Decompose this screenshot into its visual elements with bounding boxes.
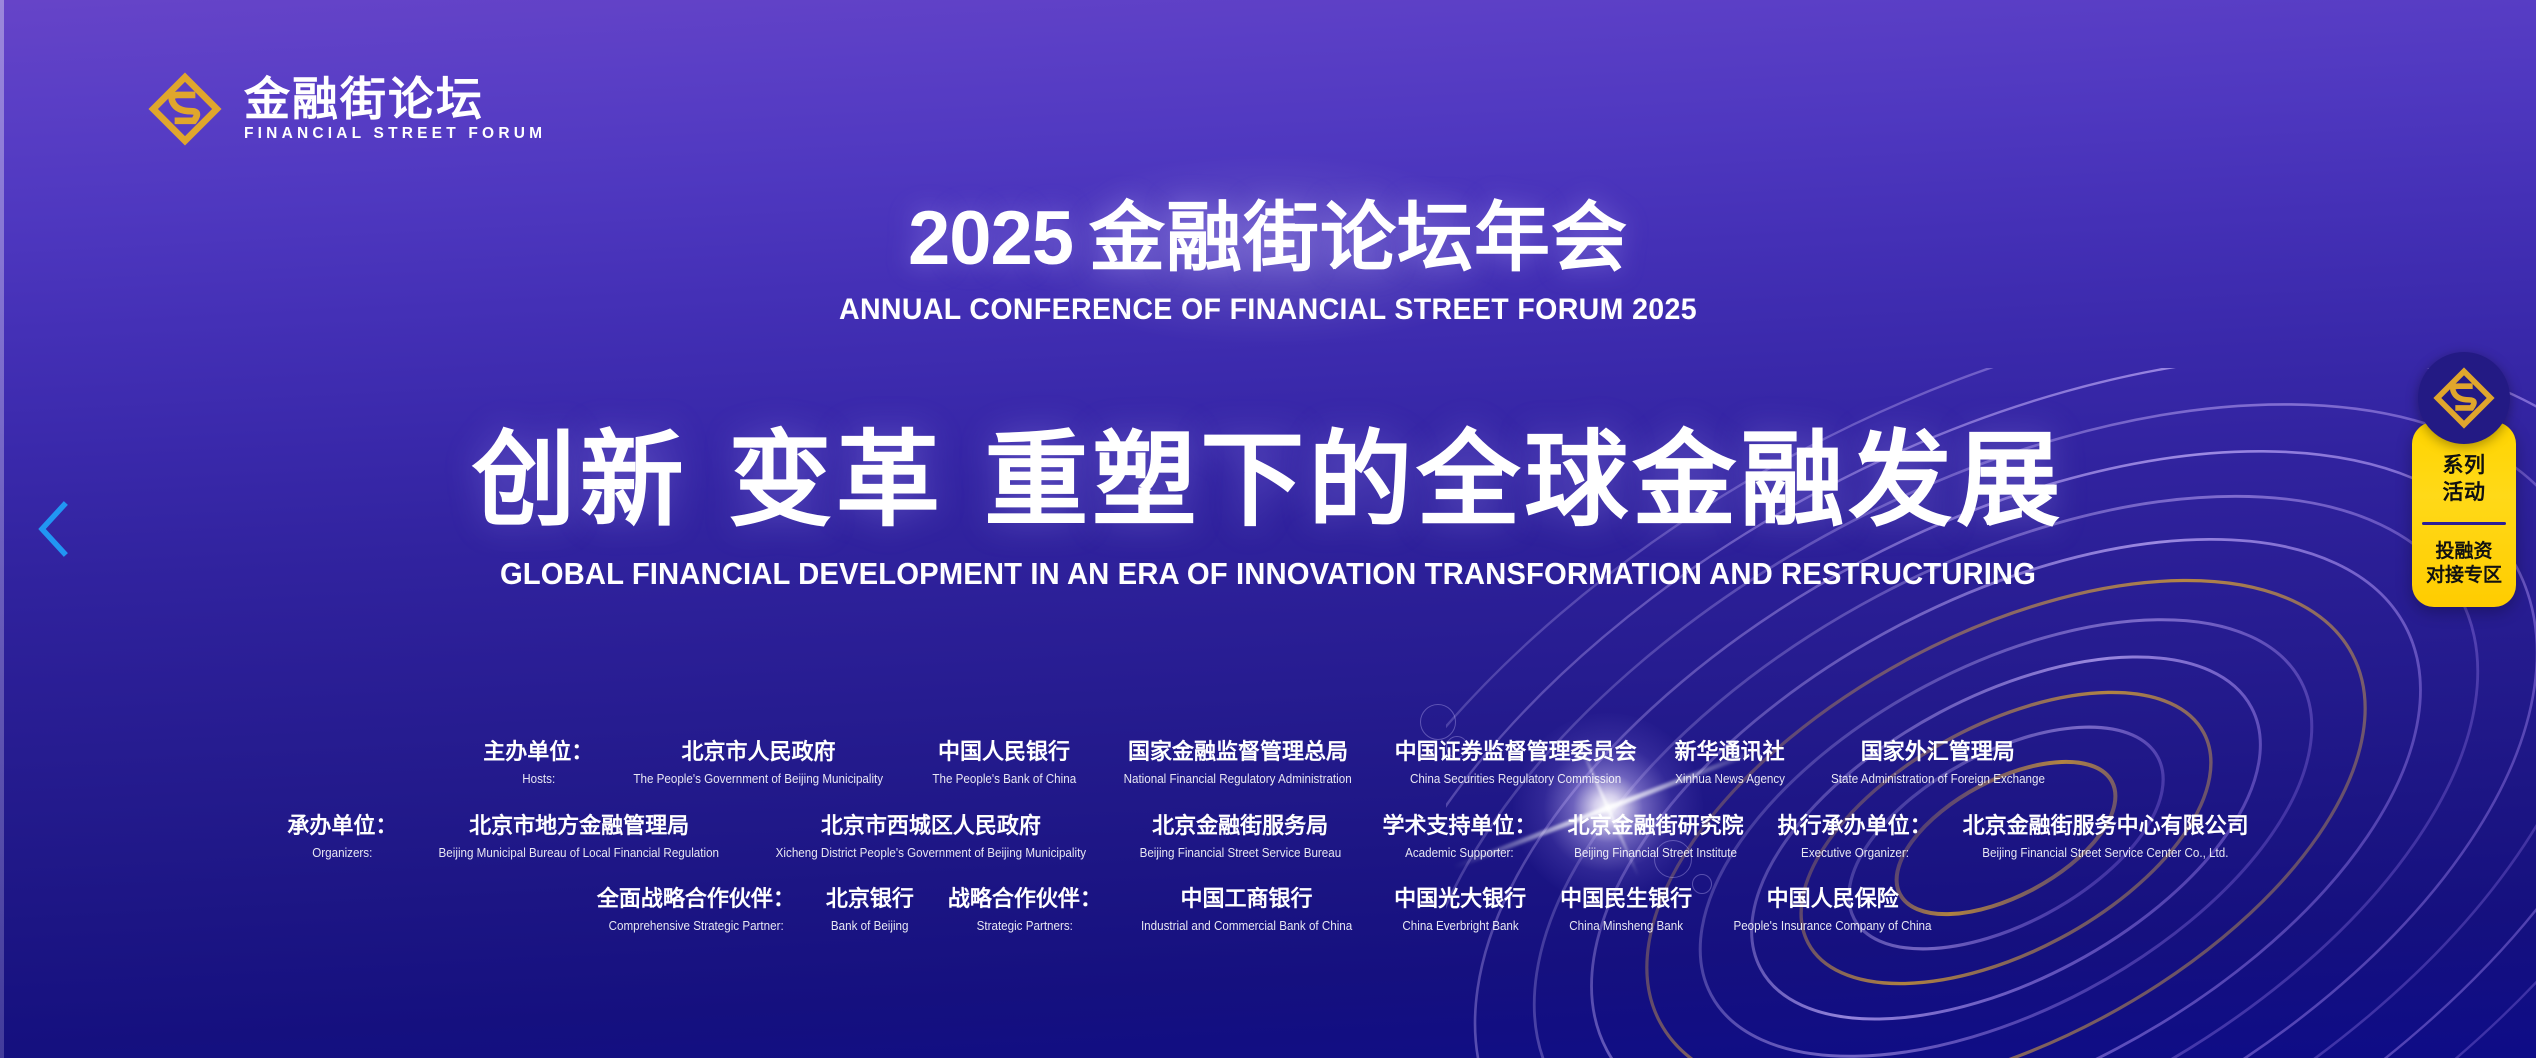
sponsor-name-en: The People's Government of Beijing Munic… [634, 772, 884, 787]
sponsor-name-en: Industrial and Commercial Bank of China [1141, 919, 1352, 934]
side-widget-divider [2422, 522, 2506, 525]
sponsor-name-cn: 学术支持单位： [1383, 814, 1537, 840]
sponsor-name-cn: 北京市西城区人民政府 [821, 814, 1041, 840]
sponsor-name-en: Comprehensive Strategic Partner: [608, 919, 783, 934]
side-widget-item[interactable]: 投融资对接专区 [2420, 539, 2508, 588]
flare-bubble [1420, 704, 1456, 740]
sponsor-category-label: 全面战略合作伙伴：Comprehensive Strategic Partner… [580, 887, 809, 934]
sponsor-name-cn: 主办单位： [483, 740, 593, 766]
sponsor-entry: 中国证券监督管理委员会China Securities Regulatory C… [1378, 740, 1654, 787]
sponsor-name-cn: 北京金融街研究院 [1568, 814, 1744, 840]
conference-banner: 金融街论坛 FINANCIAL STREET FORUM 2025金融街论坛年会… [0, 0, 2536, 1058]
sponsor-name-cn: 承办单位： [287, 814, 397, 840]
sponsor-category-label: 承办单位：Organizers: [270, 814, 411, 861]
sponsor-name-en: Xinhua News Agency [1675, 772, 1785, 787]
sponsor-entry: 北京银行Bank of Beijing [809, 887, 931, 934]
sponsor-entry: 北京金融街研究院Beijing Financial Street Institu… [1551, 814, 1761, 861]
sponsor-name-en: Beijing Financial Street Institute [1574, 846, 1737, 861]
side-widget-item-line: 对接专区 [2420, 563, 2508, 587]
headline-block: 创新 变革 重塑下的全球金融发展 GLOBAL FINANCIAL DEVELO… [0, 425, 2536, 592]
sponsor-name-cn: 国家金融监督管理总局 [1128, 740, 1348, 766]
event-year: 2025 [908, 196, 1073, 281]
headline-cn: 创新 变革 重塑下的全球金融发展 [0, 425, 2536, 535]
sponsor-entry: 中国光大银行China Everbright Bank [1377, 887, 1543, 934]
sponsor-entry: 北京市人民政府The People's Government of Beijin… [607, 740, 910, 787]
sponsor-entry: 北京金融街服务局Beijing Financial Street Service… [1115, 814, 1366, 861]
sponsor-row: 主办单位：Hosts:北京市人民政府The People's Governmen… [466, 740, 2070, 787]
sponsor-name-en: Beijing Financial Street Service Bureau [1139, 846, 1341, 861]
sponsor-name-cn: 中国人民银行 [938, 740, 1070, 766]
sponsor-name-cn: 国家外汇管理局 [1861, 740, 2015, 766]
side-widget-item-line: 投融资 [2420, 539, 2508, 563]
sponsor-name-cn: 北京银行 [826, 887, 914, 913]
sponsor-entry: 国家金融监督管理总局National Financial Regulatory … [1098, 740, 1377, 787]
sponsor-name-cn: 新华通讯社 [1675, 740, 1785, 766]
sponsor-entry: 北京金融街服务中心有限公司Beijing Financial Street Se… [1946, 814, 2266, 861]
sponsor-entry: 中国工商银行Industrial and Commercial Bank of … [1116, 887, 1377, 934]
sponsor-name-en: China Everbright Bank [1402, 919, 1518, 934]
sponsor-name-en: People's Insurance Company of China [1734, 919, 1932, 934]
sponsor-name-en: Hosts: [522, 772, 555, 787]
sponsor-name-cn: 执行承办单位： [1778, 814, 1932, 840]
event-title-block: 2025金融街论坛年会 ANNUAL CONFERENCE OF FINANCI… [0, 200, 2536, 327]
sponsor-name-cn: 北京市地方金融管理局 [469, 814, 689, 840]
sponsor-entry: 北京市西城区人民政府Xicheng District People's Gove… [747, 814, 1115, 861]
sponsor-name-en: Executive Organizer: [1801, 846, 1909, 861]
sponsor-entry: 中国人民银行The People's Bank of China [910, 740, 1099, 787]
brand-logo-cn: 金融街论坛 [244, 76, 546, 122]
headline-en: GLOBAL FINANCIAL DEVELOPMENT IN AN ERA O… [51, 557, 2486, 592]
sponsor-name-en: Beijing Municipal Bureau of Local Financ… [439, 846, 719, 861]
sponsor-name-en: Xicheng District People's Government of … [776, 846, 1086, 861]
brand-logo[interactable]: 金融街论坛 FINANCIAL STREET FORUM [148, 72, 546, 146]
event-title-cn: 2025金融街论坛年会 [0, 200, 2536, 277]
sponsor-name-en: Bank of Beijing [831, 919, 909, 934]
financial-street-forum-logo-icon [148, 72, 222, 146]
sponsor-name-en: Organizers: [312, 846, 372, 861]
sponsor-entry: 中国民生银行China Minsheng Bank [1543, 887, 1709, 934]
sponsor-name-cn: 中国证券监督管理委员会 [1395, 740, 1637, 766]
sponsor-name-en: Beijing Financial Street Service Center … [1982, 846, 2228, 861]
sponsor-name-en: China Minsheng Bank [1569, 919, 1683, 934]
sponsor-list: 主办单位：Hosts:北京市人民政府The People's Governmen… [0, 740, 2536, 934]
brand-logo-text: 金融街论坛 FINANCIAL STREET FORUM [244, 76, 546, 142]
sponsor-name-cn: 中国光大银行 [1394, 887, 1526, 913]
side-widget-item[interactable]: 系列活动 [2420, 452, 2508, 506]
sponsor-name-cn: 中国民生银行 [1560, 887, 1692, 913]
sponsor-name-en: Academic Supporter: [1405, 846, 1514, 861]
sponsor-entry: 新华通讯社Xinhua News Agency [1654, 740, 1806, 787]
chevron-left-icon [36, 501, 70, 557]
sponsor-name-cn: 战略合作伙伴： [948, 887, 1102, 913]
event-title-en: ANNUAL CONFERENCE OF FINANCIAL STREET FO… [63, 293, 2472, 327]
sponsor-name-en: National Financial Regulatory Administra… [1124, 772, 1352, 787]
sponsor-name-en: State Administration of Foreign Exchange [1831, 772, 2045, 787]
sponsor-name-cn: 北京金融街服务局 [1152, 814, 1328, 840]
sponsor-category-label: 主办单位：Hosts: [466, 740, 607, 787]
sponsor-name-cn: 全面战略合作伙伴： [597, 887, 795, 913]
side-widget-item-line: 活动 [2420, 479, 2508, 506]
side-widget-item-line: 系列 [2420, 452, 2508, 479]
floating-side-widget[interactable]: 系列活动投融资对接专区 [2410, 352, 2518, 607]
sponsor-category-label: 学术支持单位：Academic Supporter: [1366, 814, 1551, 861]
sponsor-name-en: China Securities Regulatory Commission [1410, 772, 1621, 787]
side-widget-logo[interactable] [2418, 352, 2510, 444]
sponsor-row: 全面战略合作伙伴：Comprehensive Strategic Partner… [580, 887, 1956, 934]
event-title-cn-text: 金融街论坛年会 [1089, 193, 1628, 282]
carousel-prev-button[interactable] [22, 490, 84, 568]
sponsor-name-en: Strategic Partners: [977, 919, 1073, 934]
brand-logo-en: FINANCIAL STREET FORUM [244, 126, 546, 142]
financial-street-forum-logo-icon [2433, 367, 2495, 429]
sponsor-name-cn: 中国人民保险 [1767, 887, 1899, 913]
sponsor-name-cn: 北京金融街服务中心有限公司 [1963, 814, 2249, 840]
side-widget-panel: 系列活动投融资对接专区 [2412, 422, 2516, 607]
sponsor-entry: 中国人民保险People's Insurance Company of Chin… [1709, 887, 1956, 934]
sponsor-name-en: The People's Bank of China [932, 772, 1076, 787]
sponsor-entry: 北京市地方金融管理局Beijing Municipal Bureau of Lo… [411, 814, 747, 861]
sponsor-name-cn: 北京市人民政府 [681, 740, 835, 766]
sponsor-name-cn: 中国工商银行 [1181, 887, 1313, 913]
sponsor-category-label: 执行承办单位：Executive Organizer: [1761, 814, 1946, 861]
sponsor-entry: 国家外汇管理局State Administration of Foreign E… [1806, 740, 2070, 787]
sponsor-category-label: 战略合作伙伴：Strategic Partners: [931, 887, 1116, 934]
sponsor-row: 承办单位：Organizers:北京市地方金融管理局Beijing Munici… [270, 814, 2265, 861]
